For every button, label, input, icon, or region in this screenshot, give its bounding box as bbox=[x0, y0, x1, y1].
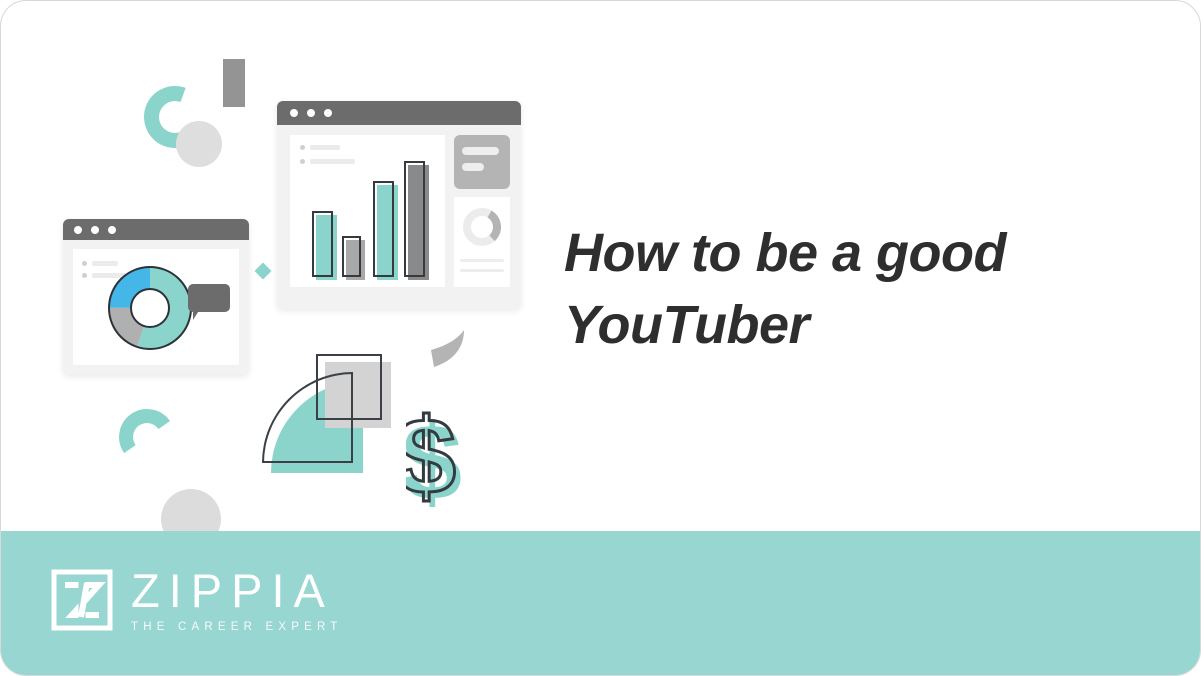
legend-label-placeholder bbox=[310, 145, 340, 150]
page-title: How to be a good YouTuber bbox=[564, 217, 1124, 361]
metric-text-line-2 bbox=[460, 269, 504, 272]
summary-pill-2 bbox=[462, 163, 484, 171]
zippia-logo[interactable]: ZIPPIA THE CAREER EXPERT bbox=[51, 567, 343, 633]
metric-text-line-1 bbox=[460, 259, 504, 262]
legend-label-placeholder bbox=[310, 159, 355, 164]
zippia-logo-text: ZIPPIA THE CAREER EXPERT bbox=[131, 567, 343, 633]
teal-quarter-arc-shape bbox=[115, 405, 180, 470]
window-dot-2 bbox=[307, 109, 315, 117]
zippia-wordmark: ZIPPIA bbox=[131, 567, 343, 614]
legend-dot-icon bbox=[82, 273, 87, 278]
analytics-window[interactable] bbox=[63, 219, 249, 375]
zippia-logo-mark-icon bbox=[51, 569, 113, 631]
summary-card bbox=[454, 135, 510, 189]
legend-item bbox=[300, 145, 340, 150]
donut-chart bbox=[105, 263, 195, 358]
illustration: $ $ bbox=[1, 1, 561, 561]
metric-card bbox=[454, 197, 510, 287]
legend-dot-icon bbox=[82, 261, 87, 266]
bar-outline-3 bbox=[373, 181, 394, 277]
window-dot-2 bbox=[91, 226, 99, 234]
window-dot-3 bbox=[108, 226, 116, 234]
dollar-sign-icon: $ $ bbox=[406, 401, 506, 516]
donut-ring-chart bbox=[460, 205, 504, 249]
tooltip-box bbox=[188, 284, 230, 312]
teal-diamond-shape bbox=[255, 263, 272, 280]
summary-pill-1 bbox=[462, 147, 499, 155]
article-card: $ $ bbox=[0, 0, 1201, 676]
window-dot-1 bbox=[290, 109, 298, 117]
svg-text:$: $ bbox=[406, 401, 456, 516]
window-dot-1 bbox=[74, 226, 82, 234]
window-titlebar bbox=[63, 219, 249, 240]
teal-quarter-circle-outline bbox=[262, 372, 353, 463]
bar-outline-2 bbox=[342, 236, 361, 277]
window-titlebar bbox=[277, 101, 521, 125]
window-dot-3 bbox=[324, 109, 332, 117]
gray-petal-shape bbox=[431, 330, 465, 368]
gray-rectangle-shape bbox=[223, 59, 245, 107]
gray-circle-shape bbox=[176, 121, 222, 167]
window-content bbox=[290, 135, 445, 287]
dashboard-window[interactable] bbox=[277, 101, 521, 309]
zippia-tagline: THE CAREER EXPERT bbox=[131, 621, 343, 633]
bar-outline-4 bbox=[404, 161, 425, 277]
legend-dot-icon bbox=[300, 159, 305, 164]
window-content bbox=[73, 249, 239, 365]
legend-dot-icon bbox=[300, 145, 305, 150]
bar-outline-1 bbox=[312, 211, 333, 277]
legend-item bbox=[300, 159, 355, 164]
